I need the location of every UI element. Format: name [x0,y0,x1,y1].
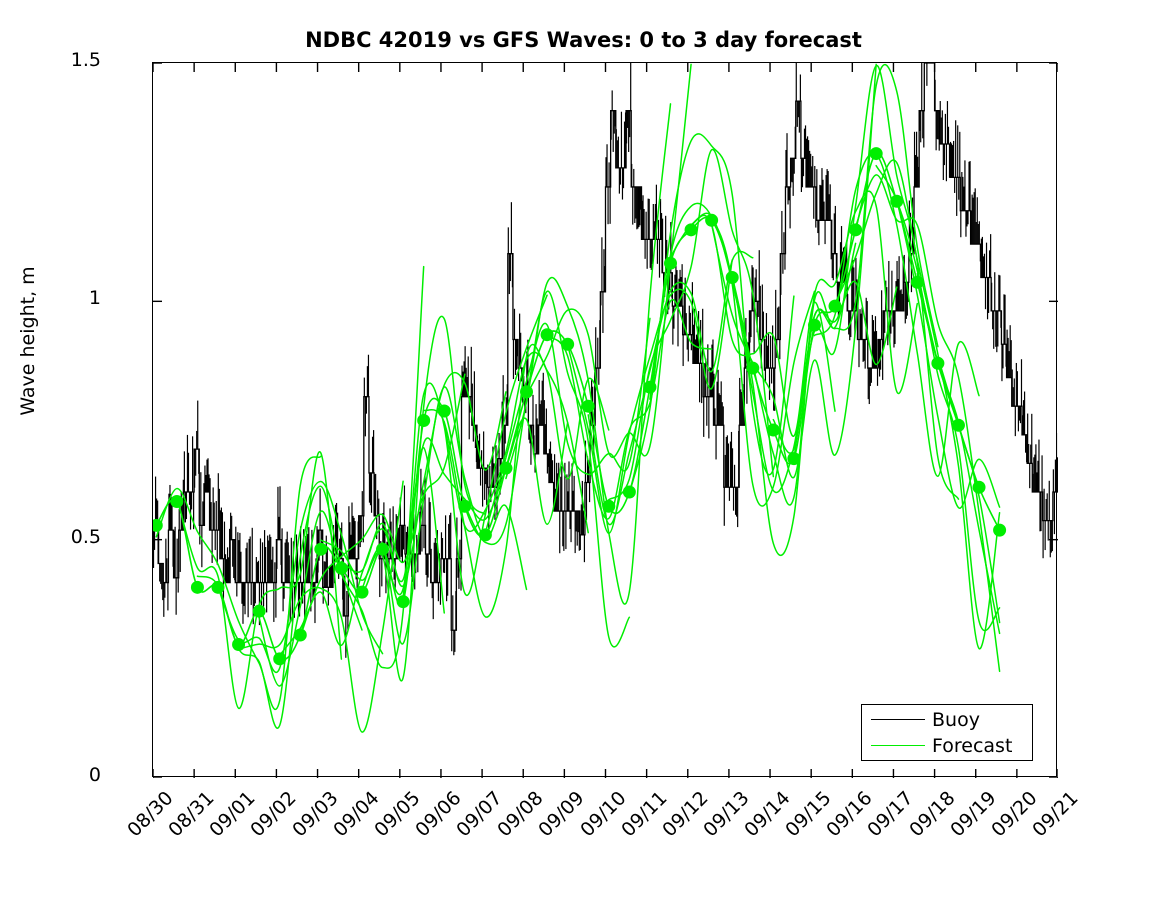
chart-legend[interactable]: Buoy Forecast [861,704,1033,761]
legend-entry-buoy[interactable]: Buoy [862,707,1034,733]
legend-swatch-forecast [871,745,925,746]
legend-label-buoy: Buoy [932,708,980,732]
legend-label-forecast: Forecast [932,734,1012,758]
plot-area [152,62,1057,777]
chart-figure: NDBC 42019 vs GFS Waves: 0 to 3 day fore… [0,0,1167,875]
legend-entry-forecast[interactable]: Forecast [862,733,1034,759]
y-tick-label: 1.5 [0,49,101,71]
y-tick-label: 1 [0,287,101,309]
forecast-series-lines [156,64,999,732]
buoy-series-line [153,63,1058,658]
y-tick-label: 0 [0,764,101,786]
legend-swatch-buoy [871,719,925,720]
y-axis-label: Wave height, m [17,81,39,601]
plot-canvas [153,63,1058,778]
chart-title: NDBC 42019 vs GFS Waves: 0 to 3 day fore… [0,28,1167,52]
y-tick-label: 0.5 [0,526,101,548]
